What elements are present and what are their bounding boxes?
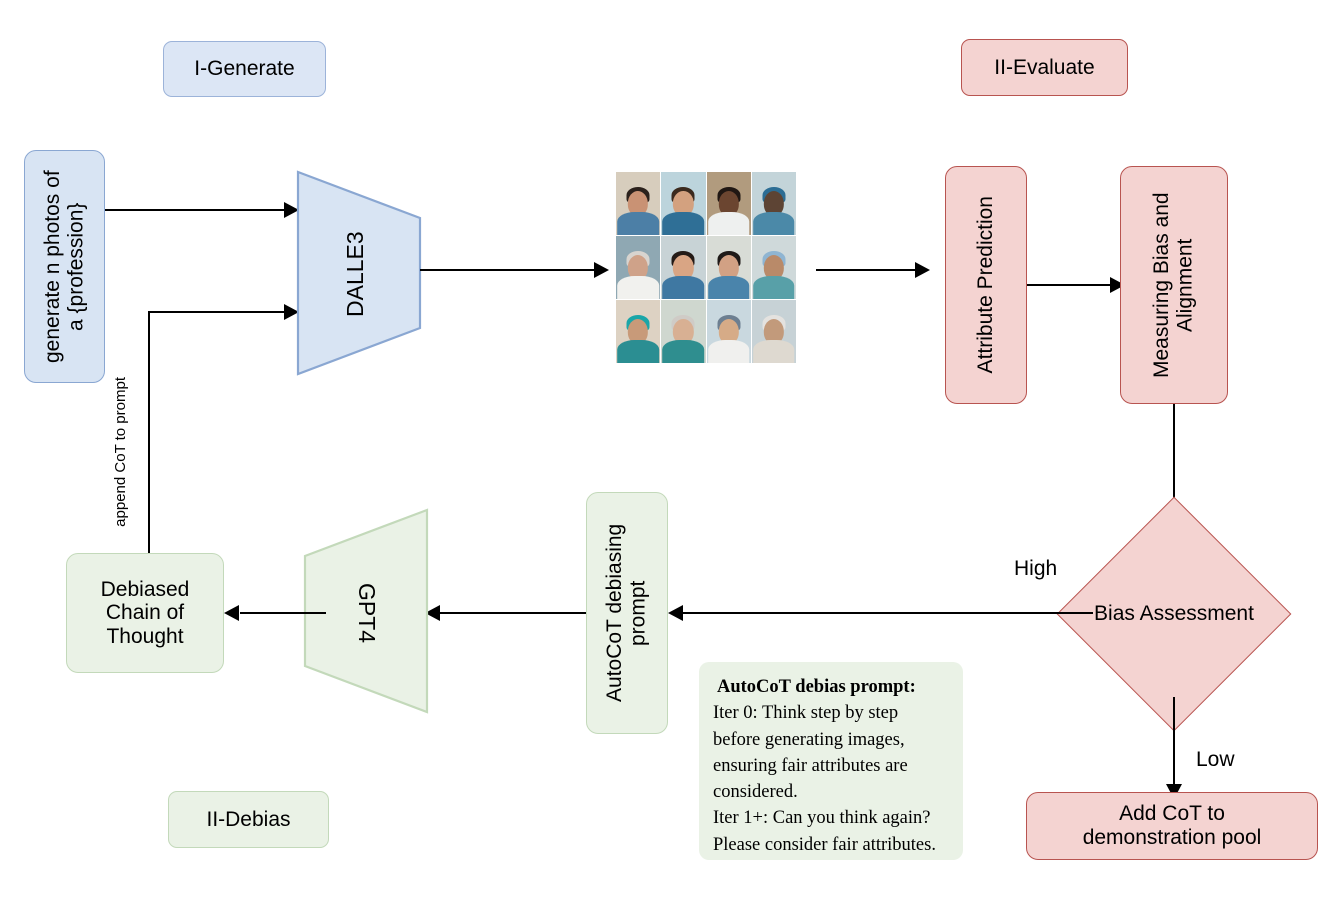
node-bias-assessment-label: Bias Assessment [1091, 531, 1257, 697]
legend-evaluate: II-Evaluate [961, 39, 1128, 96]
diagram-canvas: I-Generate II-Evaluate II-Debias generat… [0, 0, 1318, 902]
photo-cell [752, 300, 796, 363]
edge-attribute-to-measuring [1027, 284, 1111, 286]
photo-cell [707, 300, 751, 363]
autocot-debias-prompt-note: AutoCoT debias prompt: Iter 0: Think ste… [699, 662, 963, 860]
photo-cell [661, 236, 705, 299]
edge-prompt-to-dalle3 [105, 209, 285, 211]
photo-cell [707, 172, 751, 235]
node-attribute-prediction: Attribute Prediction [945, 166, 1027, 404]
photo-cell [707, 236, 751, 299]
legend-evaluate-label: II-Evaluate [994, 56, 1094, 80]
prompt-note-line: Please consider fair attributes. [713, 832, 949, 858]
legend-debias: II-Debias [168, 791, 329, 848]
node-dalle3-label: DALLE3 [342, 215, 369, 333]
prompt-note-line: Iter 0: Think step by step [713, 700, 949, 726]
edge-cot-feedback-horizontal [148, 311, 285, 313]
edge-cot-feedback-vertical [148, 311, 150, 556]
node-autocot-prompt-label: AutoCoT debiasing prompt [603, 502, 650, 724]
node-add-cot-pool: Add CoT to demonstration pool [1026, 792, 1318, 860]
arrowhead-dalle3-to-images [594, 262, 609, 278]
node-debiased-cot: Debiased Chain of Thought [66, 553, 224, 673]
prompt-note-line: Iter 1+: Can you think again? [713, 805, 949, 831]
edge-assessment-low [1173, 697, 1175, 787]
node-autocot-prompt: AutoCoT debiasing prompt [586, 492, 668, 734]
node-gpt4: GPT4 [303, 508, 429, 714]
edge-label-append-cot: append CoT to prompt [110, 377, 131, 527]
photo-cell [616, 172, 660, 235]
arrowhead-assessment-high [668, 605, 683, 621]
node-prompt-input: generate n photos of a {profession} [24, 150, 105, 383]
node-measuring-bias-label: Measuring Bias and Alignment [1150, 177, 1197, 393]
edge-label-high: High [1012, 557, 1059, 581]
arrowhead-images-to-attribute [915, 262, 930, 278]
photo-cell [661, 300, 705, 363]
node-bias-assessment: Bias Assessment [1091, 531, 1257, 697]
edge-gpt4-to-debiased [240, 612, 326, 614]
edge-dalle3-to-images [420, 269, 595, 271]
edge-label-low: Low [1194, 748, 1237, 772]
prompt-note-title: AutoCoT debias prompt: [713, 674, 949, 700]
node-debiased-cot-label: Debiased Chain of Thought [86, 578, 204, 649]
photo-cell [752, 236, 796, 299]
node-dalle3: DALLE3 [296, 170, 424, 376]
legend-generate-label: I-Generate [194, 57, 294, 81]
prompt-note-line: ensuring fair attributes are [713, 753, 949, 779]
edge-images-to-attribute [816, 269, 916, 271]
node-attribute-prediction-label: Attribute Prediction [974, 196, 998, 373]
node-measuring-bias: Measuring Bias and Alignment [1120, 166, 1228, 404]
prompt-note-line: considered. [713, 779, 949, 805]
photo-cell [752, 172, 796, 235]
legend-generate: I-Generate [163, 41, 326, 97]
node-add-cot-pool-label: Add CoT to demonstration pool [1054, 802, 1290, 849]
photo-cell [661, 172, 705, 235]
legend-debias-label: II-Debias [206, 808, 290, 832]
generated-images-grid [616, 172, 796, 363]
edge-assessment-high [683, 612, 1093, 614]
photo-cell [616, 236, 660, 299]
prompt-note-line: before generating images, [713, 727, 949, 753]
node-prompt-input-label: generate n photos of a {profession} [41, 163, 88, 371]
node-gpt4-label: GPT4 [353, 554, 380, 672]
edge-prompt-to-gpt4 [440, 612, 586, 614]
photo-cell [616, 300, 660, 363]
arrowhead-gpt4-to-debiased [224, 605, 239, 621]
